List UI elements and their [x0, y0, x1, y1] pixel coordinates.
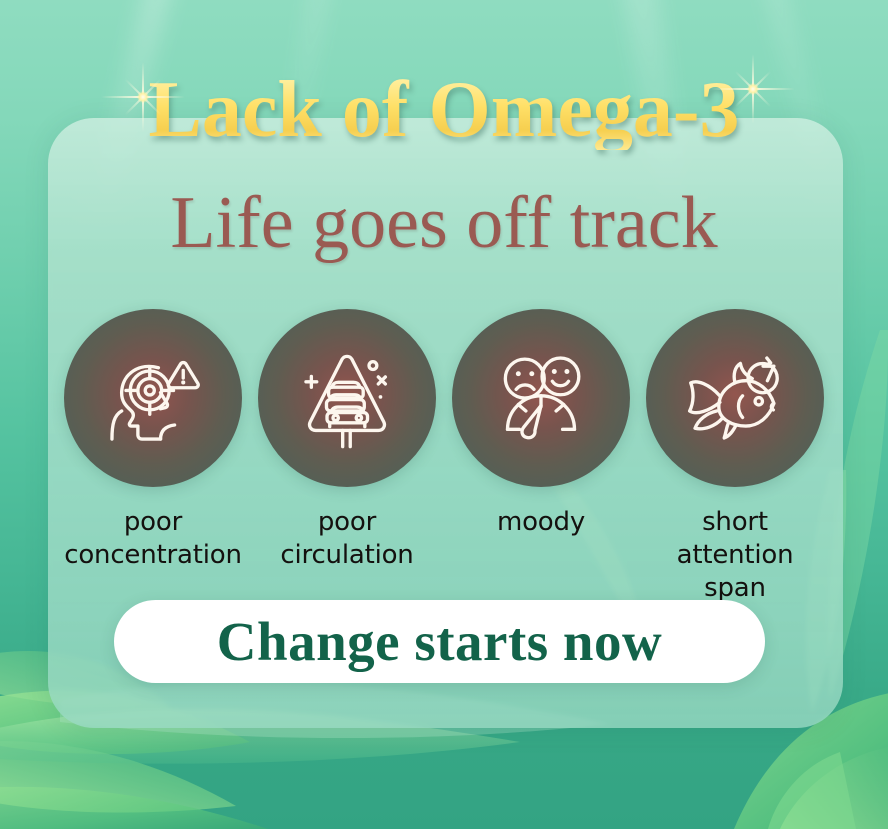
icon-badge	[452, 309, 630, 487]
list-item-label: poor concentration	[64, 506, 241, 572]
list-item-label: short attention span	[644, 506, 826, 604]
cta-button-label: Change starts now	[217, 610, 662, 673]
list-item-label: moody	[497, 506, 585, 539]
page-title: Lack of Omega-3	[0, 70, 888, 150]
list-item: poor concentration	[62, 309, 244, 572]
list-item: short attention span	[644, 309, 826, 604]
icon-badge	[258, 309, 436, 487]
list-item-label: poor circulation	[280, 506, 413, 572]
symptom-list: poor concentration	[62, 309, 826, 604]
icon-badge	[646, 309, 824, 487]
goldfish-seven-seconds-icon	[681, 344, 789, 452]
cta-button[interactable]: Change starts now	[114, 600, 765, 683]
mood-gauge-icon	[487, 344, 595, 452]
list-item: moody	[450, 309, 632, 539]
head-target-warning-icon	[99, 344, 207, 452]
page-subtitle: Life goes off track	[0, 185, 888, 263]
list-item: poor circulation	[256, 309, 438, 572]
icon-badge	[64, 309, 242, 487]
traffic-jam-sign-icon	[293, 344, 401, 452]
